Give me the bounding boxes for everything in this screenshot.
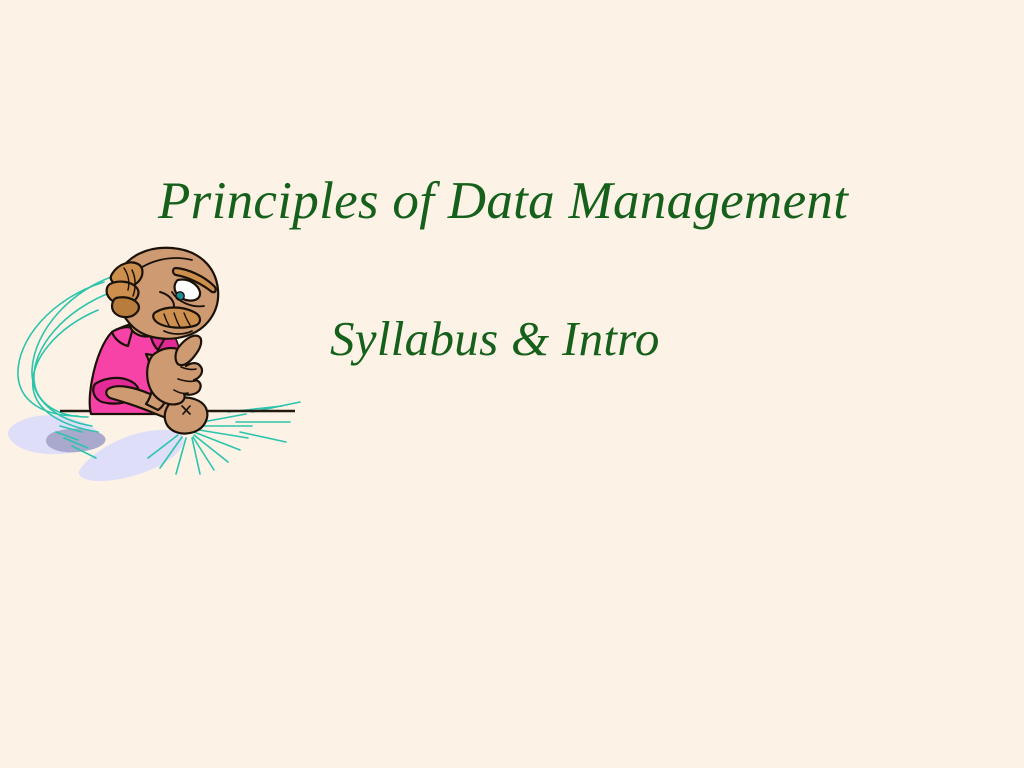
mustache bbox=[153, 308, 200, 328]
lecturer-pointing-clipart bbox=[0, 236, 330, 511]
index-finger bbox=[176, 336, 202, 366]
slide-subtitle: Syllabus & Intro bbox=[330, 312, 950, 366]
hair-tuft-lower bbox=[112, 297, 139, 317]
figure-group bbox=[90, 248, 219, 434]
slide-canvas: Principles of Data Management Syllabus &… bbox=[0, 0, 1024, 768]
slide-title: Principles of Data Management bbox=[158, 172, 918, 230]
ground-shadow-group bbox=[8, 415, 184, 481]
